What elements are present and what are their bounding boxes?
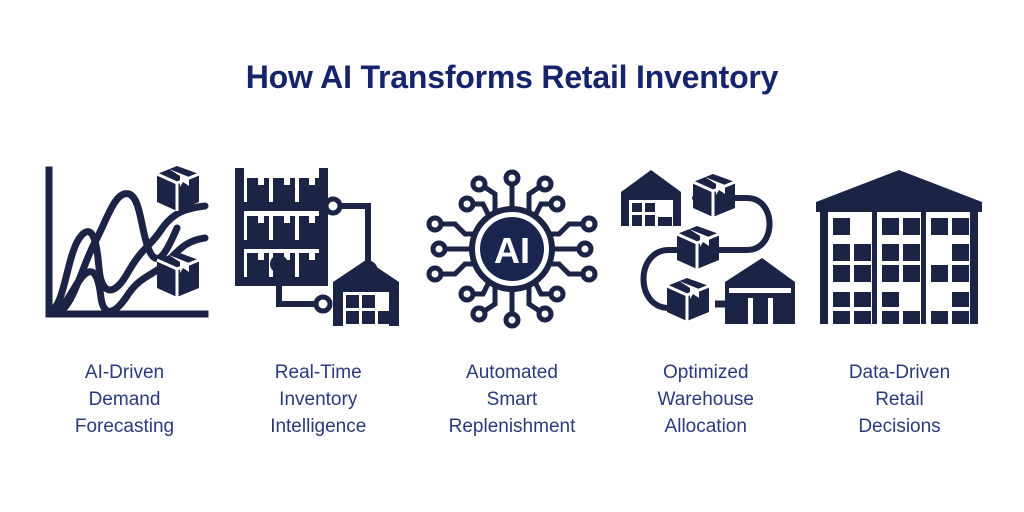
inventory-shelf-network-icon — [228, 160, 408, 338]
feature-card-demand-forecasting[interactable]: AI-Driven Demand Forecasting — [28, 160, 221, 441]
package-box-upper — [157, 166, 199, 211]
retail-building-icon — [810, 160, 990, 338]
feature-card-inventory-intelligence[interactable]: Real-Time Inventory Intelligence — [222, 160, 415, 441]
package-box-lower — [157, 252, 199, 297]
feature-card-label: Data-Driven Retail Decisions — [849, 360, 950, 441]
warehouse-building — [333, 260, 399, 326]
ai-circuit-chip-icon: AI — [422, 160, 602, 338]
package-box-middle — [677, 226, 719, 269]
warehouse-allocation-flow-icon — [616, 160, 796, 338]
infographic-canvas: How AI Transforms Retail Inventory — [0, 0, 1024, 512]
feature-card-smart-replenishment[interactable]: AI Automated Smart Replenishment — [416, 160, 609, 441]
shelf-boxes-row-2 — [247, 216, 319, 240]
feature-card-warehouse-allocation[interactable]: Optimized Warehouse Allocation — [609, 160, 802, 441]
demand-forecast-chart-icon — [35, 160, 215, 338]
warehouse-building — [621, 170, 681, 226]
ai-chip-text: AI — [494, 230, 530, 271]
package-box-bottom — [667, 278, 709, 321]
page-title: How AI Transforms Retail Inventory — [0, 58, 1024, 96]
feature-card-label: Real-Time Inventory Intelligence — [270, 360, 366, 441]
feature-card-label: Optimized Warehouse Allocation — [658, 360, 754, 441]
feature-card-retail-decisions[interactable]: Data-Driven Retail Decisions — [803, 160, 996, 441]
store-building — [725, 258, 795, 324]
feature-card-row: AI-Driven Demand Forecasting — [28, 160, 996, 441]
package-box-top — [693, 174, 735, 217]
feature-card-label: Automated Smart Replenishment — [449, 360, 576, 441]
feature-card-label: AI-Driven Demand Forecasting — [75, 360, 174, 441]
shelf-boxes-row-1 — [247, 178, 319, 202]
